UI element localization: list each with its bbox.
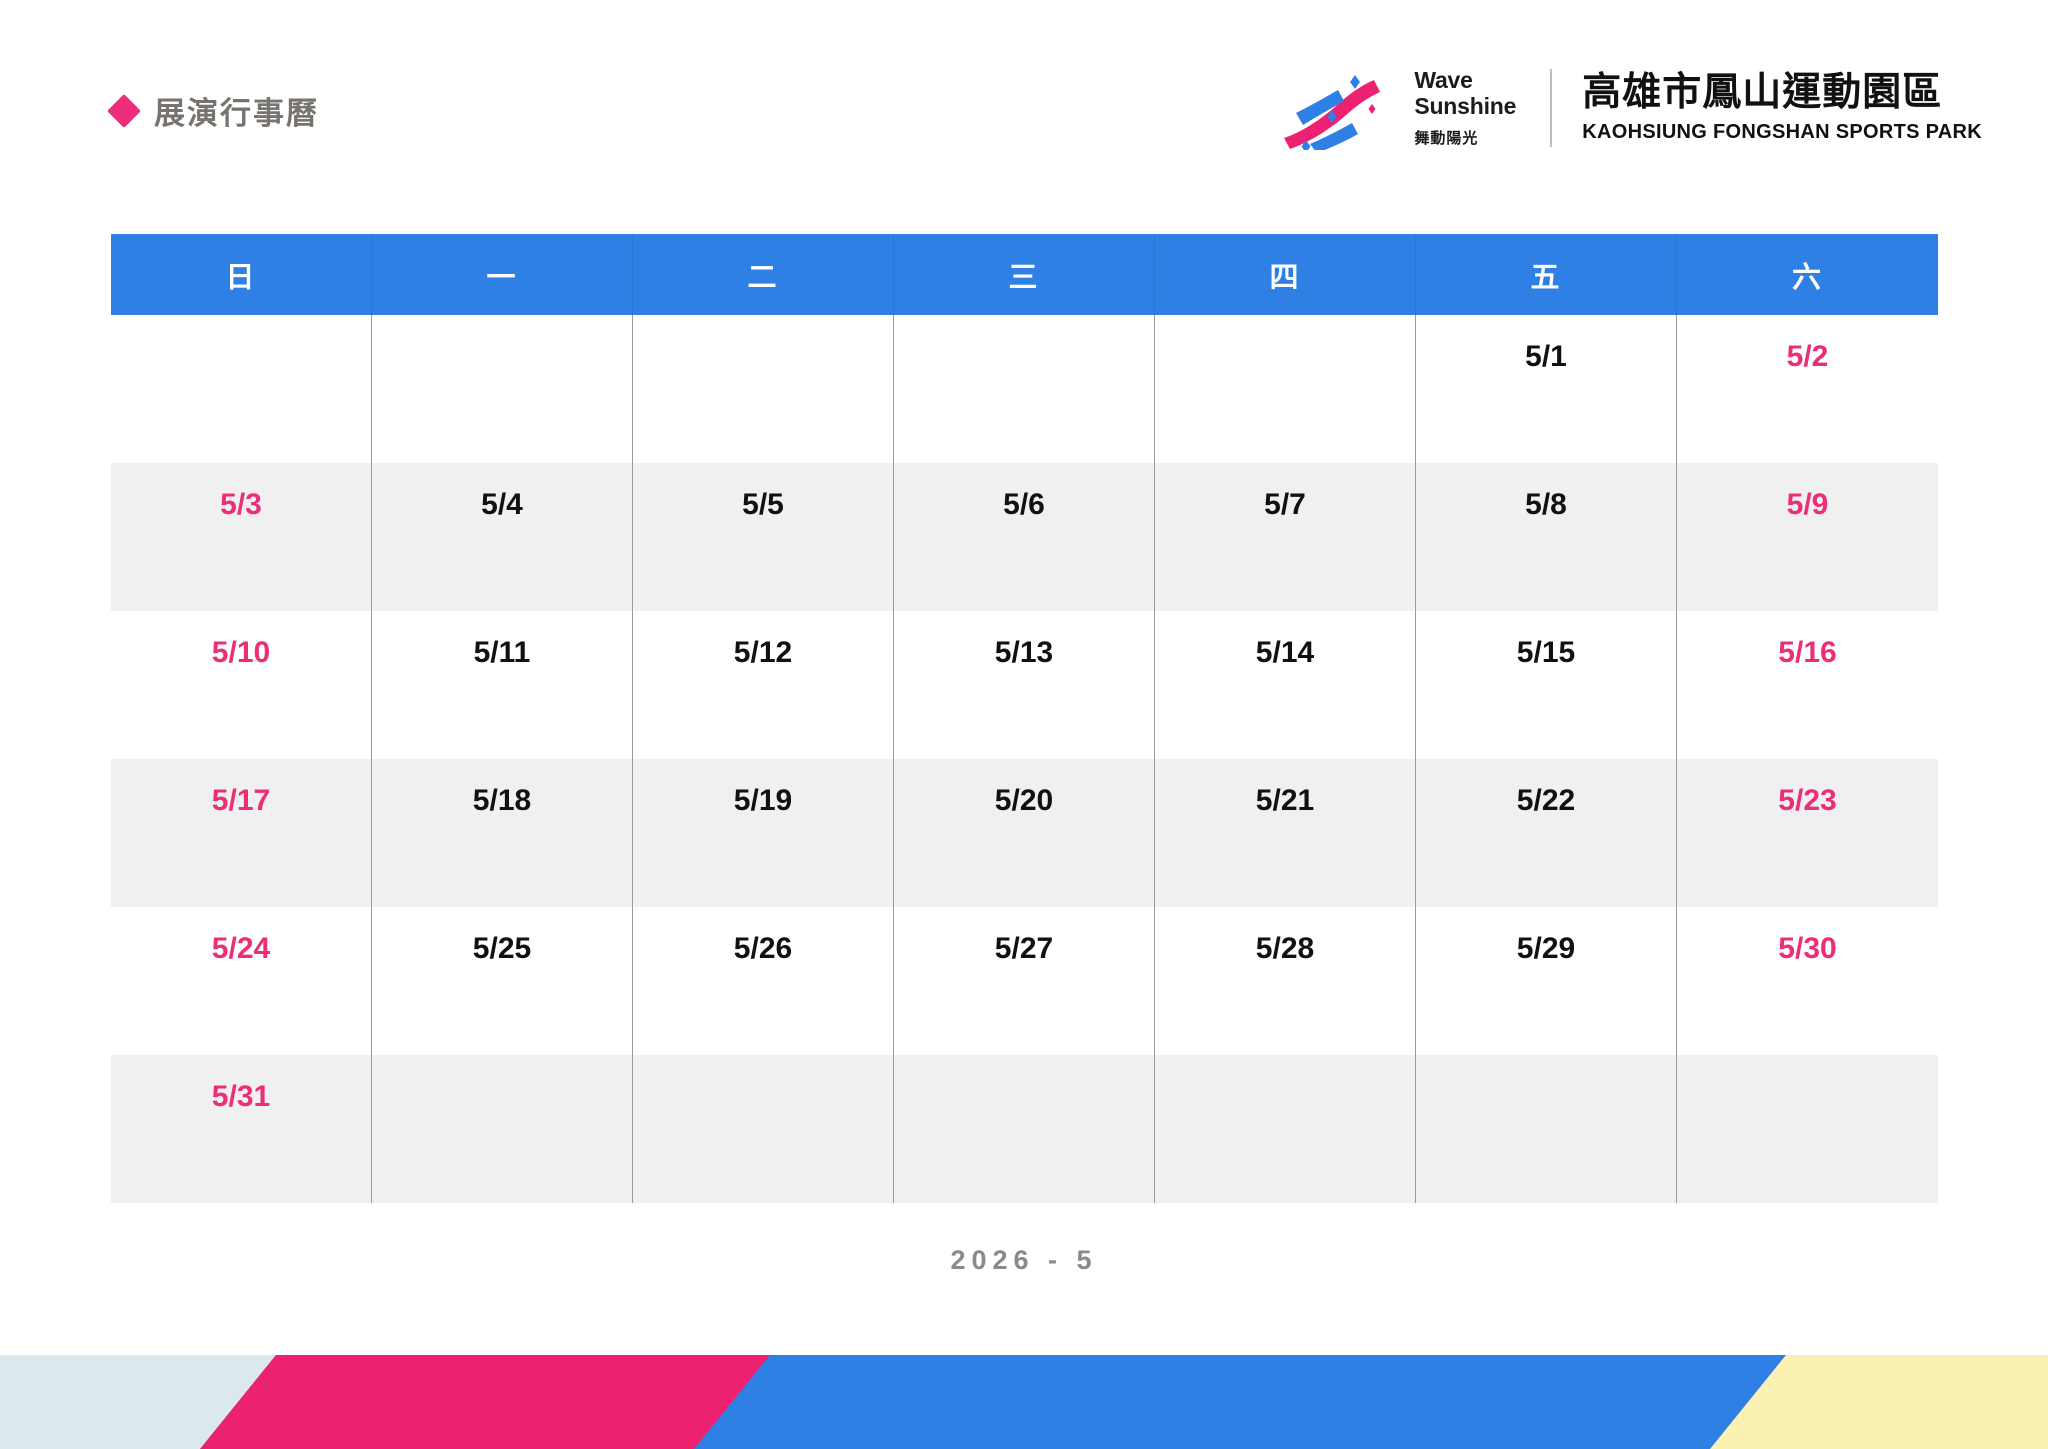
- calendar-day-cell[interactable]: [1155, 315, 1416, 463]
- venue-name-en: KAOHSIUNG FONGSHAN SPORTS PARK: [1582, 121, 1982, 144]
- calendar-date-label: 5/5: [742, 488, 784, 521]
- calendar-date-label: 5/20: [995, 784, 1053, 817]
- calendar-date-label: 5/10: [212, 636, 270, 669]
- wave-sunshine-logo-icon: [1276, 66, 1408, 150]
- calendar-day-cell[interactable]: 5/18: [372, 759, 633, 907]
- decorative-footer-bar: [0, 1355, 2048, 1449]
- calendar-date-label: 5/17: [212, 784, 270, 817]
- calendar-day-cell[interactable]: 5/26: [633, 907, 894, 1055]
- calendar-week-row: 5/1 5/2: [111, 315, 1938, 463]
- calendar-day-cell[interactable]: 5/12: [633, 611, 894, 759]
- calendar-date-label: 5/26: [734, 932, 792, 965]
- calendar-date-label: 5/21: [1256, 784, 1314, 817]
- calendar-day-cell[interactable]: 5/31: [111, 1055, 372, 1203]
- weekday-header-mon: 一: [372, 234, 633, 315]
- brand-divider: [1550, 69, 1552, 147]
- calendar-day-cell[interactable]: 5/27: [894, 907, 1155, 1055]
- weekday-header-wed: 三: [894, 234, 1155, 315]
- calendar-month-caption: 2026 - 5: [0, 1245, 2048, 1276]
- calendar-day-cell[interactable]: 5/23: [1677, 759, 1938, 907]
- calendar-day-cell[interactable]: [1416, 1055, 1677, 1203]
- calendar-date-label: 5/9: [1787, 488, 1829, 521]
- calendar-day-cell[interactable]: [633, 1055, 894, 1203]
- calendar-date-label: 5/22: [1517, 784, 1575, 817]
- diamond-icon: [107, 94, 141, 128]
- calendar-day-cell[interactable]: 5/10: [111, 611, 372, 759]
- calendar-date-label: 5/28: [1256, 932, 1314, 965]
- calendar-day-cell[interactable]: 5/17: [111, 759, 372, 907]
- calendar-day-cell[interactable]: [372, 1055, 633, 1203]
- calendar-day-cell[interactable]: 5/8: [1416, 463, 1677, 611]
- calendar-day-cell[interactable]: [111, 315, 372, 463]
- calendar-date-label: 5/30: [1778, 932, 1836, 965]
- calendar-day-cell[interactable]: 5/19: [633, 759, 894, 907]
- calendar-day-cell[interactable]: 5/25: [372, 907, 633, 1055]
- calendar-day-cell[interactable]: 5/21: [1155, 759, 1416, 907]
- calendar-week-row: 5/31: [111, 1055, 1938, 1203]
- calendar-date-label: 5/13: [995, 636, 1053, 669]
- calendar-date-label: 5/16: [1778, 636, 1836, 669]
- calendar-day-cell[interactable]: 5/6: [894, 463, 1155, 611]
- calendar-date-label: 5/25: [473, 932, 531, 965]
- calendar-day-cell[interactable]: 5/22: [1416, 759, 1677, 907]
- brand-name-line2: Sunshine: [1414, 94, 1516, 120]
- calendar-date-label: 5/11: [474, 636, 531, 669]
- page-title-group: 展演行事曆: [112, 88, 319, 133]
- calendar-date-label: 5/3: [220, 488, 262, 521]
- brand-wordmark: Wave Sunshine 舞動陽光: [1414, 66, 1516, 150]
- calendar-day-cell[interactable]: [1155, 1055, 1416, 1203]
- calendar-date-label: 5/1: [1525, 340, 1567, 373]
- calendar-week-row: 5/17 5/18 5/19 5/20 5/21 5/22 5/23: [111, 759, 1938, 907]
- calendar-day-cell[interactable]: 5/30: [1677, 907, 1938, 1055]
- calendar-weekday-header: 日 一 二 三 四 五 六: [111, 234, 1938, 315]
- calendar-date-label: 5/24: [212, 932, 270, 965]
- page-header: 展演行事曆 Wave Sunshine 舞動陽光: [0, 0, 2048, 182]
- calendar-day-cell[interactable]: [633, 315, 894, 463]
- calendar-date-label: 5/15: [1517, 636, 1575, 669]
- calendar-day-cell[interactable]: 5/24: [111, 907, 372, 1055]
- calendar-date-label: 5/27: [995, 932, 1053, 965]
- calendar-day-cell[interactable]: [372, 315, 633, 463]
- calendar-date-label: 5/2: [1787, 340, 1829, 373]
- weekday-header-thu: 四: [1155, 234, 1416, 315]
- calendar-day-cell[interactable]: 5/28: [1155, 907, 1416, 1055]
- calendar-day-cell[interactable]: [894, 315, 1155, 463]
- calendar-date-label: 5/23: [1778, 784, 1836, 817]
- calendar-date-label: 5/19: [734, 784, 792, 817]
- calendar-date-label: 5/18: [473, 784, 531, 817]
- calendar-date-label: 5/8: [1525, 488, 1567, 521]
- calendar-week-row: 5/3 5/4 5/5 5/6 5/7 5/8 5/9: [111, 463, 1938, 611]
- calendar-day-cell[interactable]: 5/29: [1416, 907, 1677, 1055]
- calendar-day-cell[interactable]: [1677, 1055, 1938, 1203]
- brand-name-line1: Wave: [1414, 68, 1516, 94]
- calendar-day-cell[interactable]: 5/14: [1155, 611, 1416, 759]
- calendar-day-cell[interactable]: 5/13: [894, 611, 1155, 759]
- calendar-date-label: 5/14: [1256, 636, 1314, 669]
- weekday-header-sun: 日: [111, 234, 372, 315]
- calendar-date-label: 5/12: [734, 636, 792, 669]
- calendar-day-cell[interactable]: 5/3: [111, 463, 372, 611]
- calendar-date-label: 5/29: [1517, 932, 1575, 965]
- weekday-header-tue: 二: [633, 234, 894, 315]
- page-title: 展演行事曆: [154, 88, 319, 133]
- calendar-date-label: 5/6: [1003, 488, 1045, 521]
- calendar-week-row: 5/24 5/25 5/26 5/27 5/28 5/29 5/30: [111, 907, 1938, 1055]
- weekday-header-sat: 六: [1677, 234, 1938, 315]
- venue-name-zh: 高雄市鳳山運動園區: [1582, 72, 1982, 114]
- calendar-day-cell[interactable]: 5/1: [1416, 315, 1677, 463]
- venue-name-block: 高雄市鳳山運動園區 KAOHSIUNG FONGSHAN SPORTS PARK: [1582, 66, 1982, 150]
- brand-block: Wave Sunshine 舞動陽光 高雄市鳳山運動園區 KAOHSIUNG F…: [1276, 62, 1982, 154]
- calendar-day-cell[interactable]: 5/20: [894, 759, 1155, 907]
- calendar-day-cell[interactable]: 5/7: [1155, 463, 1416, 611]
- calendar-day-cell[interactable]: [894, 1055, 1155, 1203]
- calendar-date-label: 5/4: [481, 488, 523, 521]
- calendar-day-cell[interactable]: 5/15: [1416, 611, 1677, 759]
- calendar-date-label: 5/7: [1264, 488, 1306, 521]
- calendar-body: 5/1 5/2 5/3 5/4 5/5 5/6 5/7 5/8 5/9 5/10…: [111, 315, 1938, 1203]
- brand-name-zh: 舞動陽光: [1414, 127, 1516, 148]
- calendar: 日 一 二 三 四 五 六 5/1 5/2 5/3 5/4 5/5 5/6 5/…: [111, 234, 1938, 1203]
- calendar-date-label: 5/31: [212, 1080, 270, 1113]
- calendar-day-cell[interactable]: 5/16: [1677, 611, 1938, 759]
- calendar-day-cell[interactable]: 5/5: [633, 463, 894, 611]
- calendar-day-cell[interactable]: 5/4: [372, 463, 633, 611]
- calendar-day-cell[interactable]: 5/9: [1677, 463, 1938, 611]
- calendar-day-cell[interactable]: 5/2: [1677, 315, 1938, 463]
- calendar-week-row: 5/10 5/11 5/12 5/13 5/14 5/15 5/16: [111, 611, 1938, 759]
- calendar-day-cell[interactable]: 5/11: [372, 611, 633, 759]
- weekday-header-fri: 五: [1416, 234, 1677, 315]
